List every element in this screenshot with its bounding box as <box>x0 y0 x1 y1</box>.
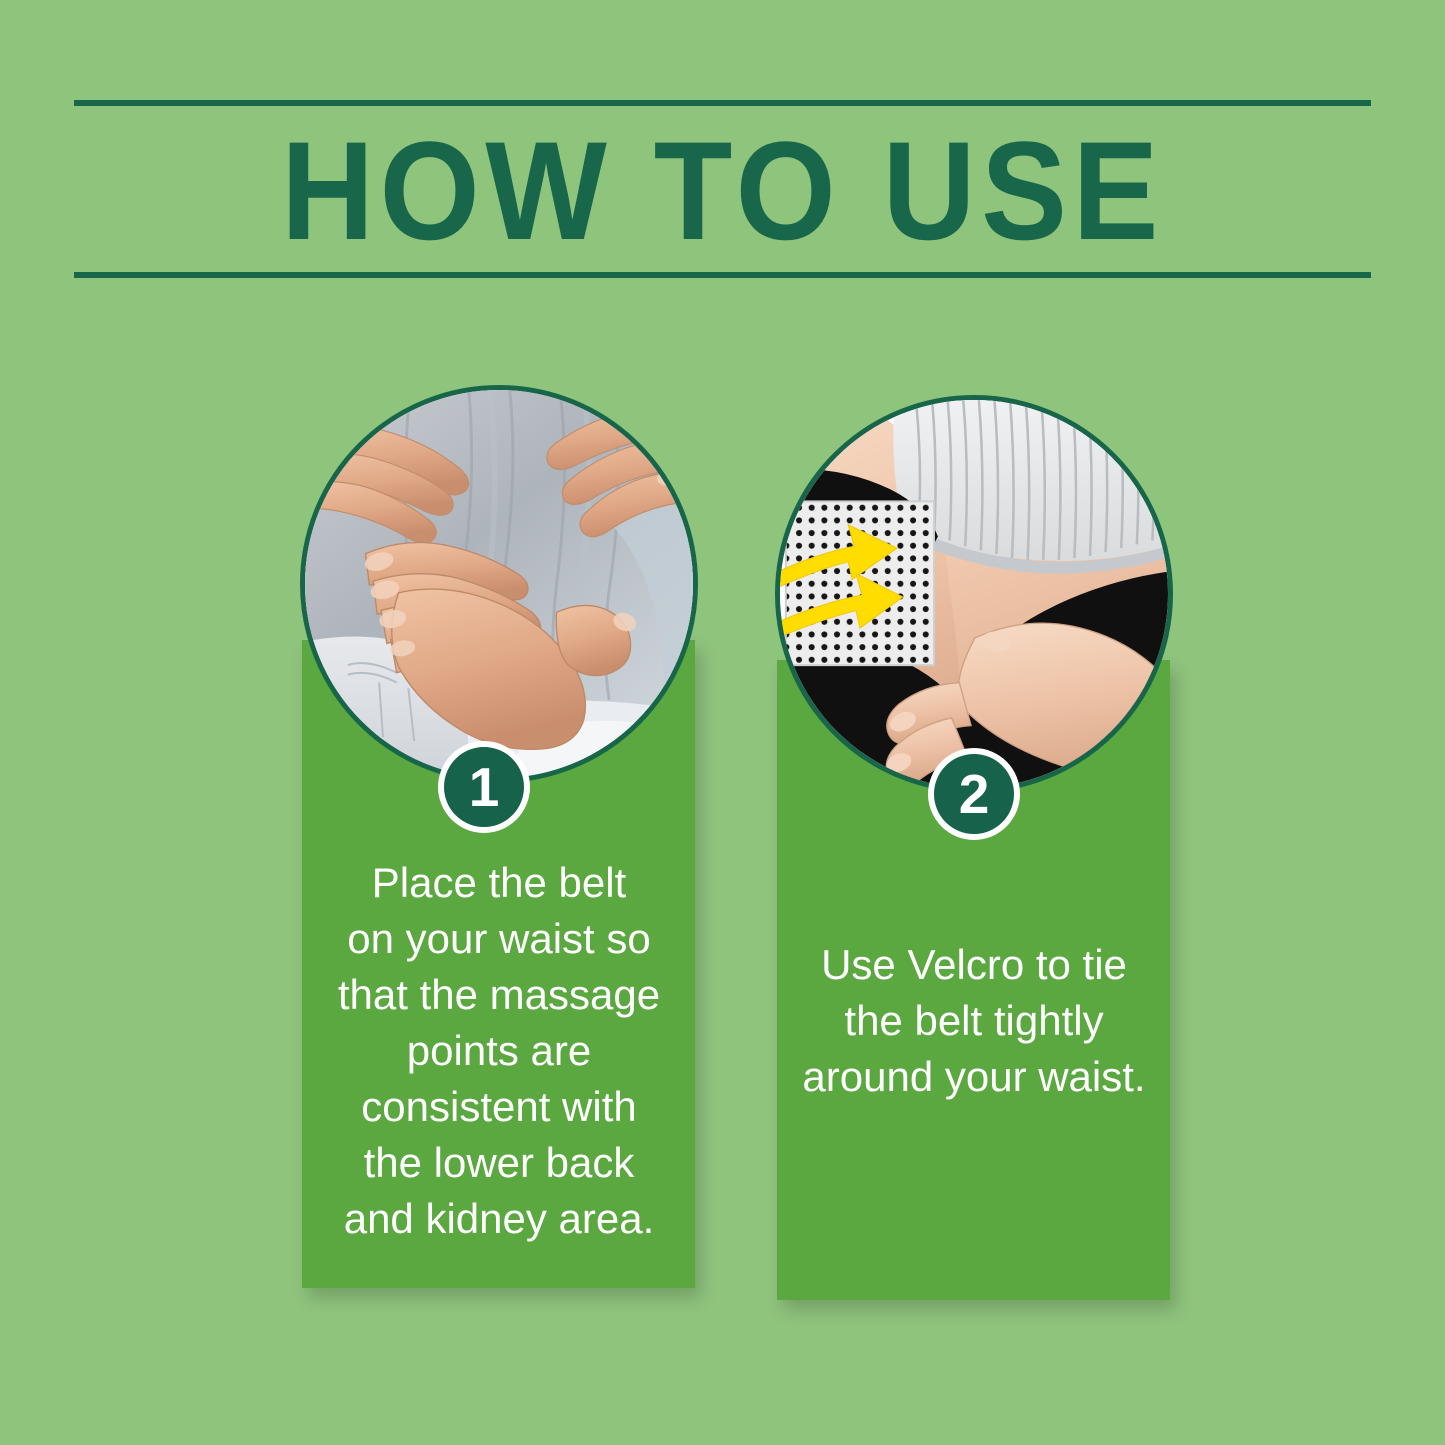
step-1-number-badge: 1 <box>438 741 530 833</box>
step-2-number: 2 <box>959 767 990 822</box>
step-2-photo <box>775 395 1173 793</box>
step-1-caption: Place the belt on your waist so that the… <box>306 855 692 1247</box>
steps-container: 1 Place the belt on your waist so that t… <box>0 0 1445 1445</box>
step-1-number: 1 <box>469 760 500 815</box>
step-1-photo <box>300 385 698 783</box>
hands-on-lower-back-photo <box>305 390 693 778</box>
step-2-number-badge: 2 <box>928 748 1020 840</box>
belt-wrapped-around-waist-photo <box>780 400 1168 788</box>
step-2-caption: Use Velcro to tie the belt tightly aroun… <box>781 937 1167 1105</box>
